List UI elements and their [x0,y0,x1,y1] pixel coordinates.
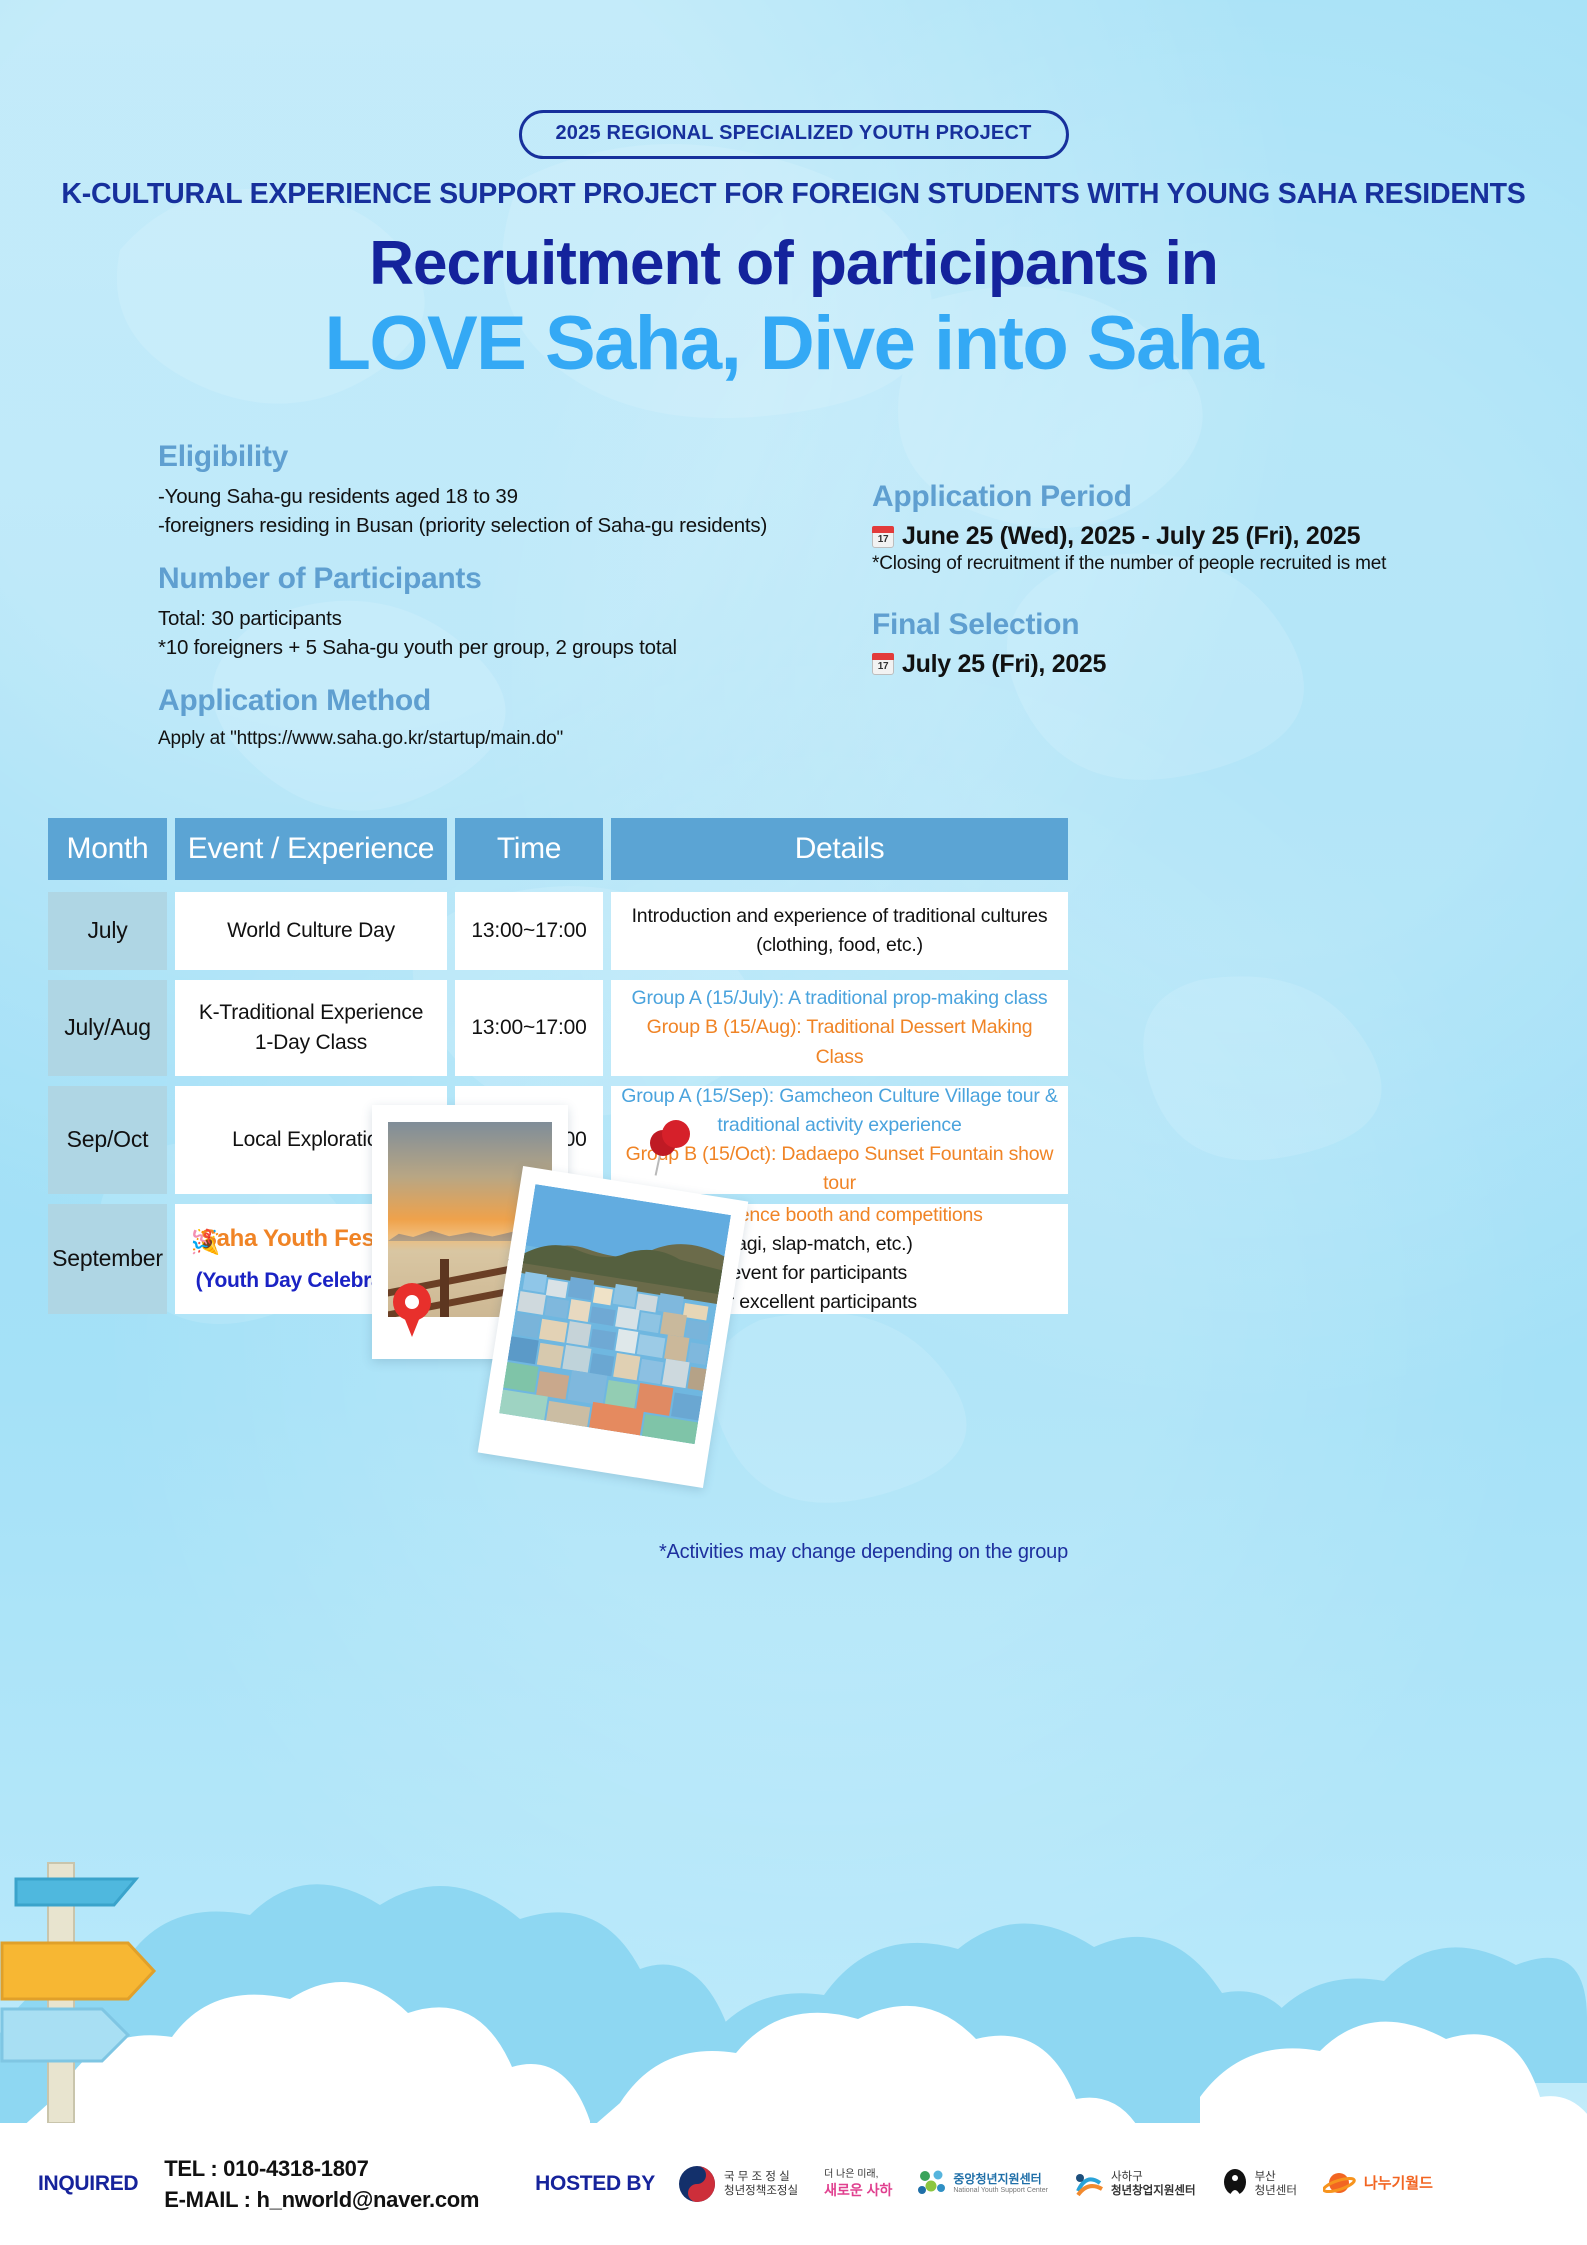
info-block: Eligibility -Young Saha-gu residents age… [0,440,1587,680]
column-header-details: Details [611,818,1068,880]
logo-text: 부산 청년센터 [1255,2170,1297,2199]
project-subheading: K-CULTURAL EXPERIENCE SUPPORT PROJECT FO… [0,178,1587,211]
cell-details: Group A (15/July): A traditional prop-ma… [611,980,1068,1076]
application-period-dates: June 25 (Wed), 2025 - July 25 (Fri), 202… [902,522,1360,551]
application-period-dates-row: 17 June 25 (Wed), 2025 - July 25 (Fri), … [872,522,1512,551]
calendar-icon: 17 [872,526,894,548]
cell-month: July/Aug [48,980,167,1076]
logo-office-for-government-policy-coordination: 국 무 조 정 실청년정책조정실 [677,2164,798,2204]
sponsor-logos: 국 무 조 정 실청년정책조정실 더 나은 미래, 새로운 사하 중앙청년지원센… [677,2164,1433,2204]
push-pin-icon [648,1120,696,1180]
info-column-left: Eligibility -Young Saha-gu residents age… [158,440,818,753]
contact-email: E-MAIL : h_nworld@naver.com [164,2184,479,2215]
details-line: (clothing, food, etc.) [632,931,1048,960]
inquired-label: INQUIRED [38,2172,138,2196]
people-icon [918,2169,946,2199]
cloud-decoration [0,1883,1587,2123]
schedule-note: *Activities may change depending on the … [48,1541,1068,1564]
photo-gamcheon-image [499,1184,731,1444]
participants-heading: Number of Participants [158,562,818,596]
cell-month: September [48,1204,167,1314]
poster-canvas: 2025 REGIONAL SPECIALIZED YOUTH PROJECT … [0,0,1587,2245]
logo-nanugiworld: 나누기월드 [1323,2170,1433,2198]
logo-busan-youth-center: 부산 청년센터 [1222,2169,1297,2199]
cell-time: 13:00~17:00 [455,980,603,1076]
cell-details: Introduction and experience of tradition… [611,892,1068,970]
final-selection-date-row: 17 July 25 (Fri), 2025 [872,650,1512,679]
event-line-2: 1-Day Class [199,1028,423,1058]
logo-text: 더 나은 미래, 새로운 사하 [824,2169,892,2199]
eligibility-line-1: -Young Saha-gu residents aged 18 to 39 [158,482,818,511]
page-title-line1: Recruitment of participants in [0,228,1587,299]
details-group-b: Group B (15/Aug): Traditional Dessert Ma… [621,1013,1058,1072]
application-method-url[interactable]: Apply at "https://www.saha.go.kr/startup… [158,726,818,753]
hosted-by-label: HOSTED BY [535,2172,655,2196]
cell-time: 13:00~17:00 [455,892,603,970]
logo-new-saha: 더 나은 미래, 새로운 사하 [824,2169,892,2199]
logo-text: 사하구 청년창업지원센터 [1111,2170,1196,2199]
details-line: Introduction and experience of tradition… [632,902,1048,931]
column-header-event: Event / Experience [175,818,447,880]
logo-text: 중앙청년지원센터 National Youth Support Center [953,2172,1048,2196]
page-title-line2: LOVE Saha, Dive into Saha [0,300,1587,387]
party-popper-icon: 🎉 [191,1227,221,1259]
table-row: July/Aug K-Traditional Experience 1-Day … [48,980,1068,1076]
project-badge: 2025 REGIONAL SPECIALIZED YOUTH PROJECT [518,110,1068,159]
eligibility-line-2: -foreigners residing in Busan (priority … [158,511,818,540]
application-period-heading: Application Period [872,480,1512,514]
person-icon [1222,2169,1248,2199]
orange-swirl-icon [1323,2170,1357,2198]
contact-tel: TEL : 010-4318-1807 [164,2153,479,2184]
participants-line-1: Total: 30 participants [158,604,818,633]
footer-bar: INQUIRED TEL : 010-4318-1807 E-MAIL : h_… [0,2123,1587,2245]
cell-month: July [48,892,167,970]
eligibility-heading: Eligibility [158,440,818,474]
event-line-1: K-Traditional Experience [199,998,423,1028]
photo-gamcheon-village [478,1166,749,1488]
details-group-a-line-1: Group A (15/Sep): Gamcheon Culture Villa… [621,1082,1058,1111]
final-selection-heading: Final Selection [872,608,1512,642]
cell-month: Sep/Oct [48,1086,167,1194]
taegeuk-icon [677,2164,717,2204]
details-group-a: Group A (15/July): A traditional prop-ma… [621,984,1058,1013]
logo-text: 국 무 조 정 실청년정책조정실 [724,2170,798,2199]
logo-national-youth-support-center: 중앙청년지원센터 National Youth Support Center [918,2169,1048,2199]
table-header-row: Month Event / Experience Time Details [48,818,1068,880]
logo-saha-gu-youth-startup-support-center: 사하구 청년창업지원센터 [1074,2169,1196,2199]
final-selection-date: July 25 (Fri), 2025 [902,650,1106,679]
application-period-note: *Closing of recruitment if the number of… [872,551,1512,578]
logo-text: 나누기월드 [1364,2175,1433,2194]
map-pin-icon [393,1283,431,1337]
info-column-right: Application Period 17 June 25 (Wed), 202… [872,480,1512,679]
column-header-month: Month [48,818,167,880]
contact-info: TEL : 010-4318-1807 E-MAIL : h_nworld@na… [164,2153,479,2215]
wave-icon [1074,2169,1104,2199]
application-method-heading: Application Method [158,684,818,718]
cell-event: K-Traditional Experience 1-Day Class [175,980,447,1076]
table-row: July World Culture Day 13:00~17:00 Intro… [48,892,1068,970]
signpost-illustration [0,1823,230,2123]
cell-event: World Culture Day [175,892,447,970]
participants-line-2: *10 foreigners + 5 Saha-gu youth per gro… [158,633,818,662]
column-header-time: Time [455,818,603,880]
calendar-icon: 17 [872,653,894,675]
